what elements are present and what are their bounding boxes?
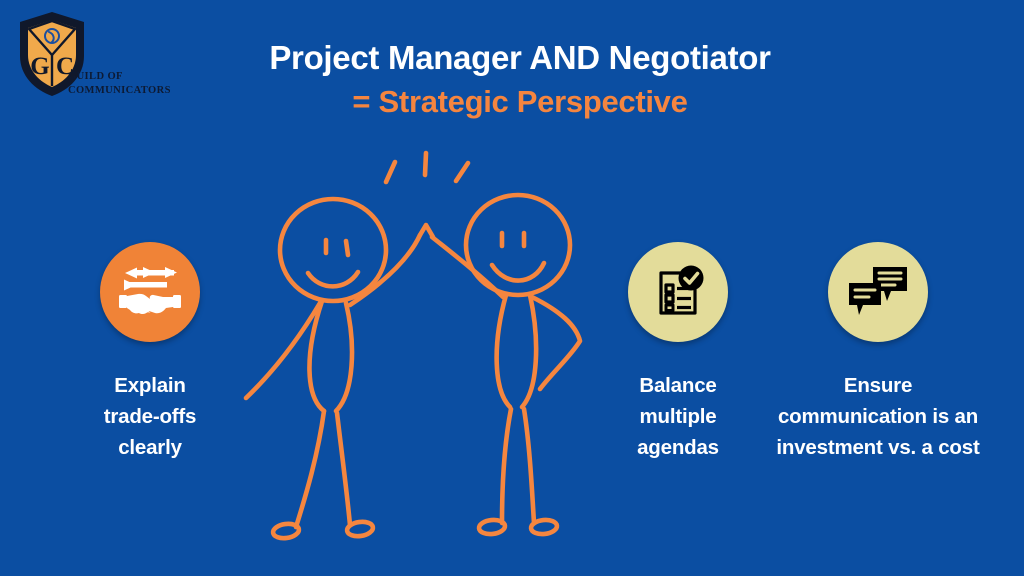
feature-1-caption: Explain trade-offs clearly bbox=[38, 370, 262, 463]
right-figure-leg-left bbox=[502, 409, 511, 523]
feature-3-icon-circle bbox=[828, 242, 928, 342]
left-figure-leg-right bbox=[337, 413, 350, 525]
two-stick-figures-high-five-illustration bbox=[240, 145, 610, 555]
title-line-secondary: = Strategic Perspective bbox=[16, 80, 1024, 124]
impact-line-left bbox=[386, 162, 395, 182]
feature-1-icon-circle bbox=[100, 242, 200, 342]
title-line-primary: Project Manager AND Negotiator bbox=[16, 36, 1024, 80]
slide-title: Project Manager AND Negotiator = Strateg… bbox=[0, 36, 1024, 124]
impact-line-center bbox=[425, 153, 426, 175]
right-figure-torso-right bbox=[522, 295, 536, 407]
left-figure-torso-right bbox=[336, 303, 352, 411]
feature-3-caption-line2: communication is an bbox=[744, 401, 1012, 432]
speech-bubbles-icon bbox=[847, 265, 909, 319]
right-figure-foot-left bbox=[478, 519, 505, 536]
right-figure-foot-right bbox=[530, 519, 557, 536]
left-figure-foot-right bbox=[346, 520, 374, 537]
right-figure-smile bbox=[492, 263, 544, 281]
right-figure-leg-right bbox=[524, 409, 534, 523]
impact-line-right bbox=[456, 163, 468, 181]
feature-2-icon-circle bbox=[628, 242, 728, 342]
feature-3-caption-line3: investment vs. a cost bbox=[744, 432, 1012, 463]
right-figure-torso-left bbox=[497, 295, 510, 407]
feature-explain-trade-offs: Explain trade-offs clearly bbox=[38, 242, 262, 463]
feature-balance-agendas: Balance multiple agendas bbox=[594, 242, 762, 463]
left-figure-leg-left bbox=[296, 411, 324, 527]
feature-communication-investment: Ensure communication is an investment vs… bbox=[744, 242, 1012, 463]
feature-2-caption-line2: multiple bbox=[594, 401, 762, 432]
handshake-exchange-icon bbox=[119, 264, 181, 320]
right-figure-arm-hip bbox=[532, 297, 580, 389]
feature-2-caption: Balance multiple agendas bbox=[594, 370, 762, 463]
feature-1-caption-line1: Explain bbox=[38, 370, 262, 401]
feature-1-caption-line2: trade-offs bbox=[38, 401, 262, 432]
feature-1-caption-line3: clearly bbox=[38, 432, 262, 463]
feature-2-caption-line1: Balance bbox=[594, 370, 762, 401]
feature-2-caption-line3: agendas bbox=[594, 432, 762, 463]
feature-3-caption-line1: Ensure bbox=[744, 370, 1012, 401]
left-figure-smile bbox=[308, 272, 358, 286]
left-figure-foot-left bbox=[272, 522, 300, 539]
slide-canvas: G C GUILD OF COMMUNICATORS Project Manag… bbox=[0, 0, 1024, 576]
checklist-clipboard-icon bbox=[649, 263, 707, 321]
feature-3-caption: Ensure communication is an investment vs… bbox=[744, 370, 1012, 463]
